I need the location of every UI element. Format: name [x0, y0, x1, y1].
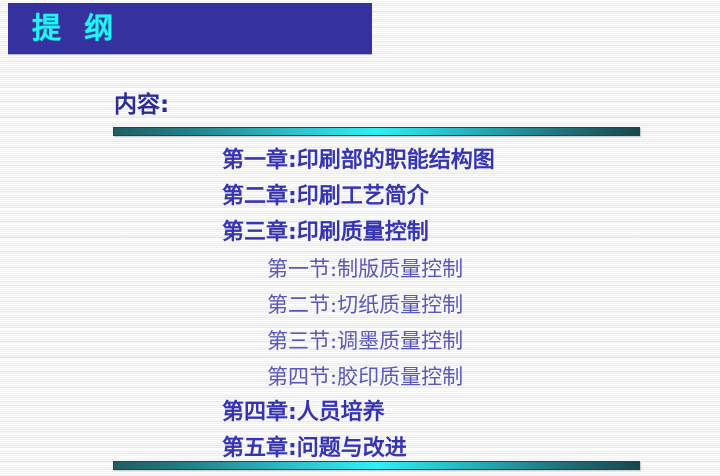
outline-item-chapter: 第四章:人员培养	[0, 395, 720, 431]
outline-item-section: 第一节:制版质量控制	[0, 251, 720, 287]
outline-item-chapter: 第三章:印刷质量控制	[0, 215, 720, 251]
outline-item-section: 第二节:切纸质量控制	[0, 287, 720, 323]
outline-item-chapter: 第二章:印刷工艺简介	[0, 179, 720, 215]
outline-item-section: 第四节:胶印质量控制	[0, 359, 720, 395]
slide-title-banner: 提 纲	[8, 3, 372, 54]
content-heading: 内容:	[114, 85, 169, 119]
divider-bar-bottom	[113, 461, 640, 470]
slide-title: 提 纲	[32, 10, 114, 46]
presentation-slide: 提 纲 内容: 第一章:印刷部的职能结构图第二章:印刷工艺简介第三章:印刷质量控…	[0, 0, 720, 476]
outline-list: 第一章:印刷部的职能结构图第二章:印刷工艺简介第三章:印刷质量控制第一节:制版质…	[0, 143, 720, 467]
divider-bar-top	[113, 127, 640, 136]
outline-item-chapter: 第一章:印刷部的职能结构图	[0, 143, 720, 179]
outline-item-section: 第三节:调墨质量控制	[0, 323, 720, 359]
